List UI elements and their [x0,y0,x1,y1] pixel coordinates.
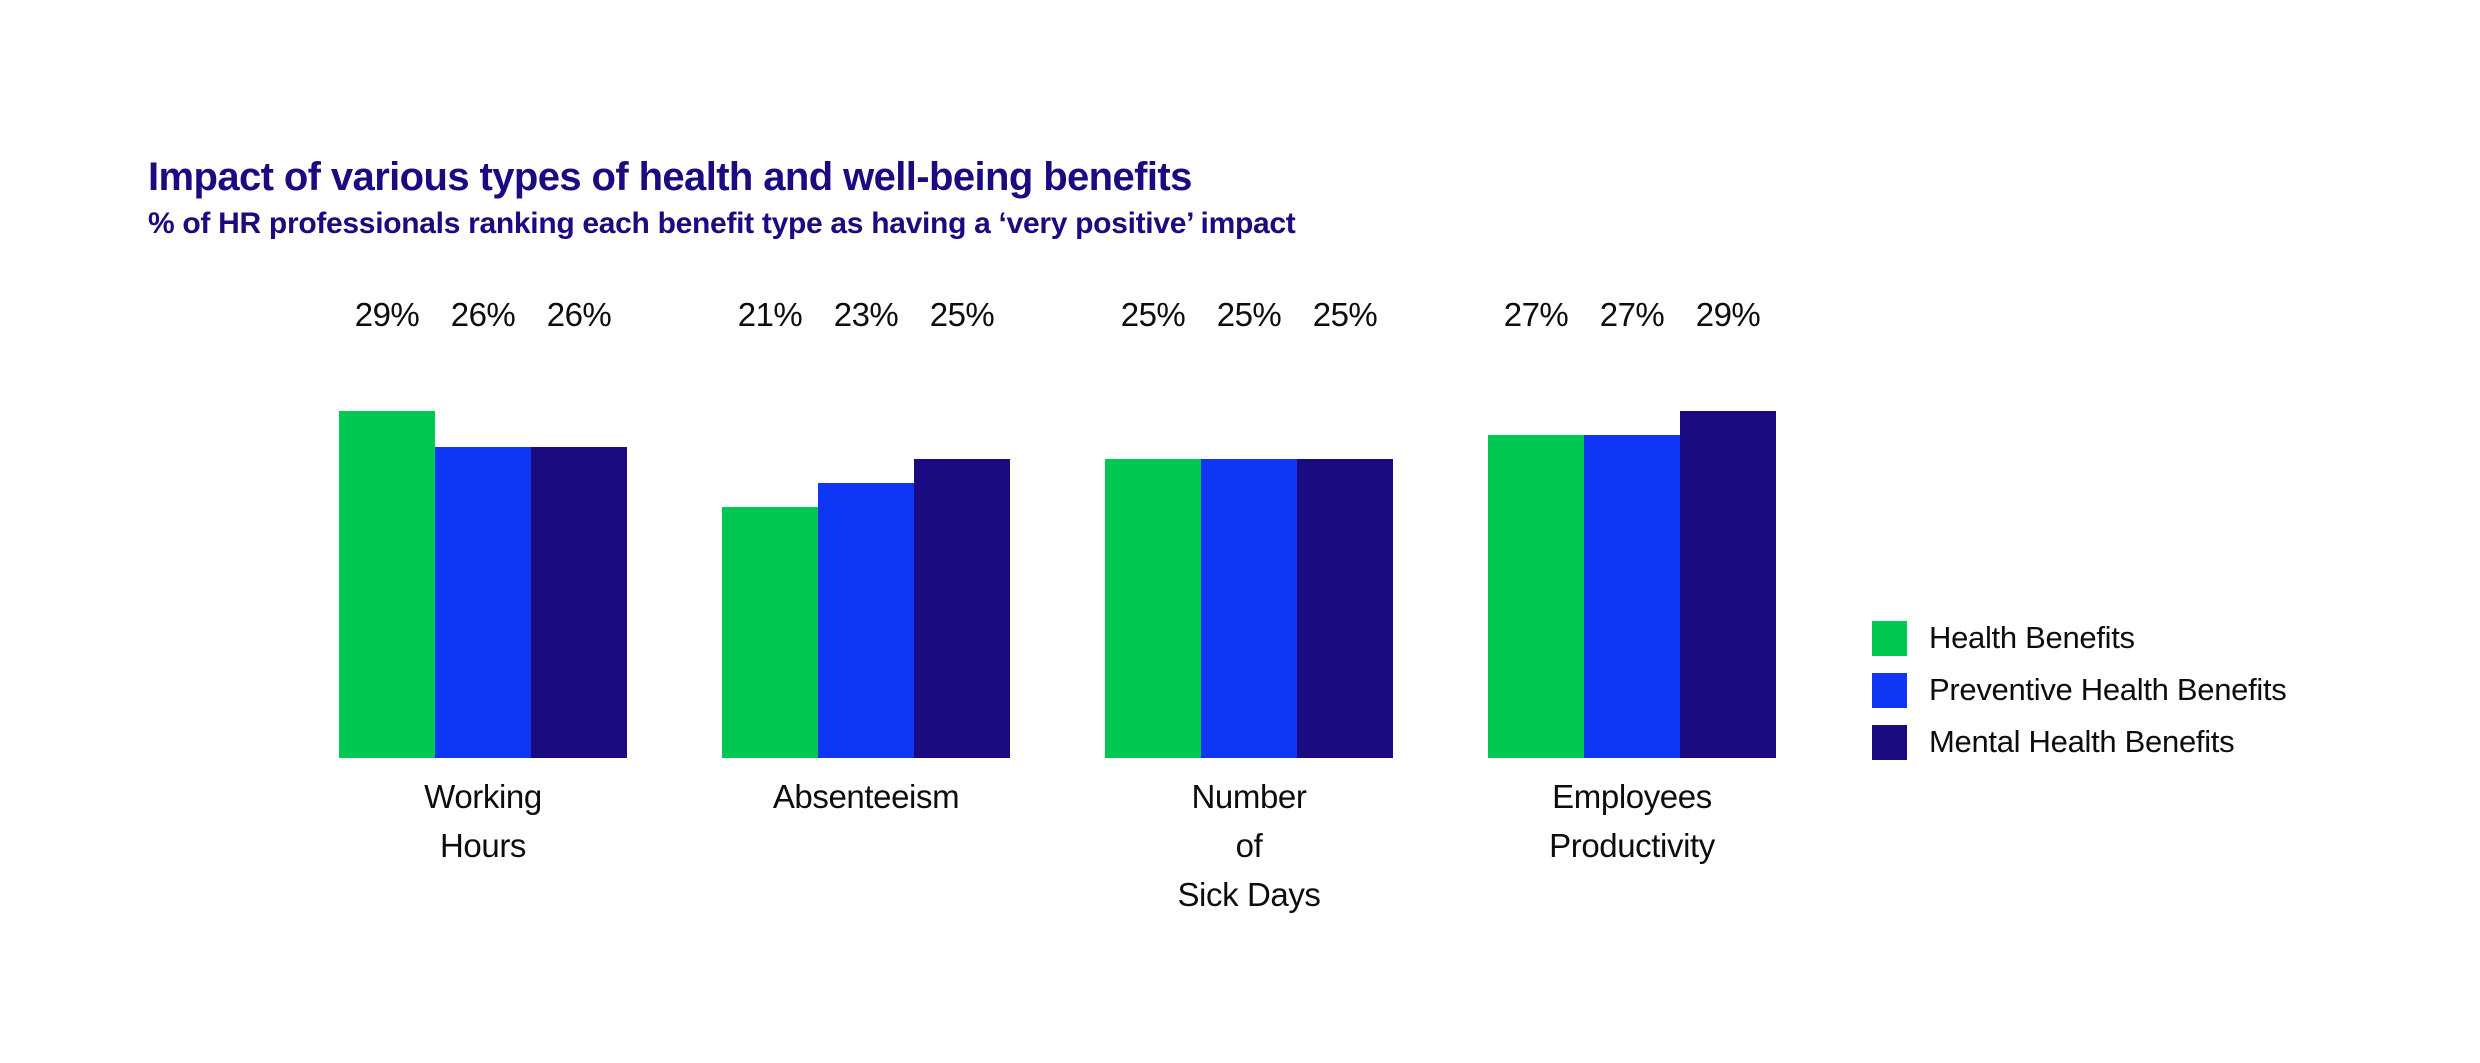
bar-value-label: 29% [355,296,420,334]
bar-rect[interactable] [531,447,627,758]
bar-group: 25%25%25%Number of Sick Days [1105,0,1393,1063]
bar-value-label: 26% [451,296,516,334]
bar-value-label: 27% [1600,296,1665,334]
legend-item-label: Mental Health Benefits [1929,724,2234,760]
plot-area: 29%26%26%Working Hours21%23%25%Absenteei… [0,0,2480,1063]
bar[interactable]: 21% [722,338,818,758]
bar-group-bars: 27%27%29% [1488,338,1776,758]
bar-rect[interactable] [914,459,1010,758]
bar[interactable]: 26% [531,338,627,758]
bar-value-label: 29% [1696,296,1761,334]
bar[interactable]: 27% [1584,338,1680,758]
legend-item-label: Preventive Health Benefits [1929,672,2287,708]
bar-rect[interactable] [1105,459,1201,758]
bar-rect[interactable] [1680,411,1776,758]
bar-value-label: 25% [1313,296,1378,334]
bar-group-bars: 29%26%26% [339,338,627,758]
bar-value-label: 25% [1121,296,1186,334]
bar[interactable]: 29% [339,338,435,758]
chart-figure: Impact of various types of health and we… [0,0,2480,1063]
bar-value-label: 23% [834,296,899,334]
bar-group: 29%26%26%Working Hours [339,0,627,1063]
legend-item[interactable]: Preventive Health Benefits [1872,664,2287,716]
bar-rect[interactable] [435,447,531,758]
category-label: Working Hours [411,772,555,870]
category-label: Absenteeism [773,772,959,821]
bar[interactable]: 25% [1297,338,1393,758]
bar-group: 27%27%29%Employees Productivity [1488,0,1776,1063]
bar-group-bars: 25%25%25% [1105,338,1393,758]
bar-value-label: 27% [1504,296,1569,334]
bar[interactable]: 27% [1488,338,1584,758]
category-label: Number of Sick Days [1177,772,1321,919]
legend-swatch-icon [1872,621,1907,656]
bar[interactable]: 29% [1680,338,1776,758]
bar[interactable]: 25% [1105,338,1201,758]
bar-rect[interactable] [1584,435,1680,758]
chart-legend: Health BenefitsPreventive Health Benefit… [1872,612,2287,768]
bar-rect[interactable] [1297,459,1393,758]
legend-swatch-icon [1872,725,1907,760]
legend-swatch-icon [1872,673,1907,708]
bar-value-label: 26% [547,296,612,334]
bar-rect[interactable] [1201,459,1297,758]
bar-rect[interactable] [339,411,435,758]
category-label: Employees Productivity [1549,772,1715,870]
bar-value-label: 25% [1217,296,1282,334]
bar-group-bars: 21%23%25% [722,338,1010,758]
bar-rect[interactable] [1488,435,1584,758]
bar-value-label: 25% [930,296,995,334]
legend-item-label: Health Benefits [1929,620,2135,656]
bar-value-label: 21% [738,296,803,334]
bar[interactable]: 23% [818,338,914,758]
legend-item[interactable]: Health Benefits [1872,612,2287,664]
bar[interactable]: 26% [435,338,531,758]
bar[interactable]: 25% [1201,338,1297,758]
bar-rect[interactable] [818,483,914,758]
legend-item[interactable]: Mental Health Benefits [1872,716,2287,768]
bar-rect[interactable] [722,507,818,758]
bar-group: 21%23%25%Absenteeism [722,0,1010,1063]
bar[interactable]: 25% [914,338,1010,758]
